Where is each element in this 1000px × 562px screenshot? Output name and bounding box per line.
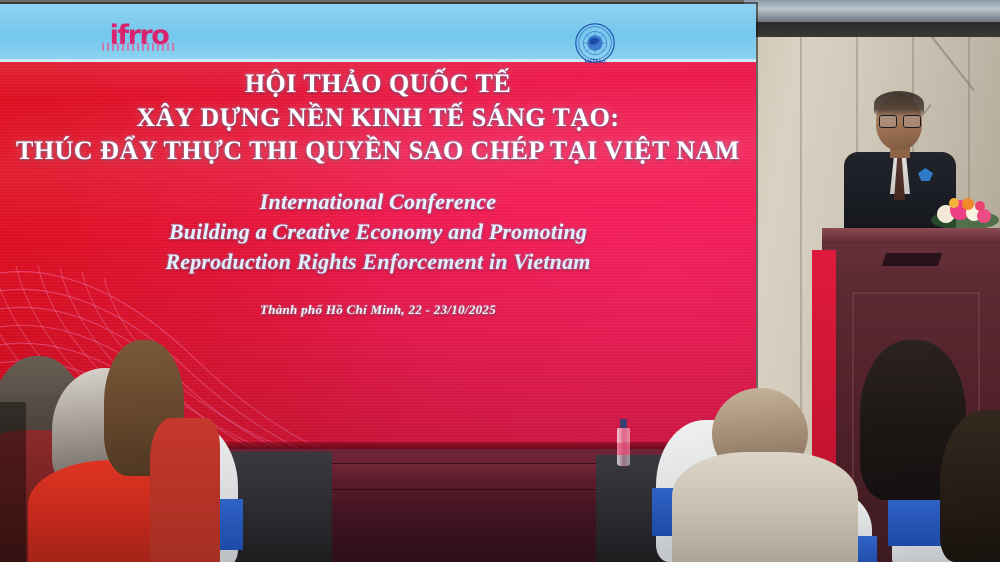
title-en-line3: Reproduction Rights Enforcement in Vietn…: [0, 247, 756, 277]
water-bottle: [617, 419, 630, 466]
title-vi-line2: XÂY DỰNG NỀN KINH TẾ SÁNG TẠO:: [0, 102, 756, 134]
vietrro-emblem-icon: VIETRRO: [571, 20, 619, 68]
event-date-location: Thành phố Hồ Chí Minh, 22 - 23/10/2025: [0, 302, 756, 318]
conference-photo: ifrro VIETRRO HỘI THẢO QUỐC TẾ XÂY DỰNG …: [0, 0, 1000, 562]
ifrro-logo: ifrro: [96, 18, 182, 52]
ifrro-logo-bars: [102, 43, 176, 51]
wall-panel-seam: [800, 0, 802, 420]
title-vi-line1: HỘI THẢO QUỐC TẾ: [0, 68, 756, 100]
emblem-label: VIETRRO: [584, 59, 605, 65]
title-vi-line3: THÚC ĐẨY THỰC THI QUYỀN SAO CHÉP TẠI VIỆ…: [0, 135, 756, 167]
title-en-line1: International Conference: [0, 187, 756, 217]
title-en-line2: Building a Creative Economy and Promotin…: [0, 217, 756, 247]
eyeglasses-icon: [879, 115, 919, 126]
foreground-shadow: [0, 402, 26, 562]
podium-top-edge: [822, 228, 1000, 244]
audience-person-shoulders: [672, 452, 858, 562]
flower-arrangement: [930, 186, 1000, 230]
ceiling-beam: [744, 0, 1000, 22]
screen-title-block: HỘI THẢO QUỐC TẾ XÂY DỰNG NỀN KINH TẾ SÁ…: [0, 68, 756, 318]
ceiling-shadow-band: [744, 22, 1000, 37]
audience-person: [150, 418, 220, 562]
podium-emblem: [882, 253, 943, 266]
